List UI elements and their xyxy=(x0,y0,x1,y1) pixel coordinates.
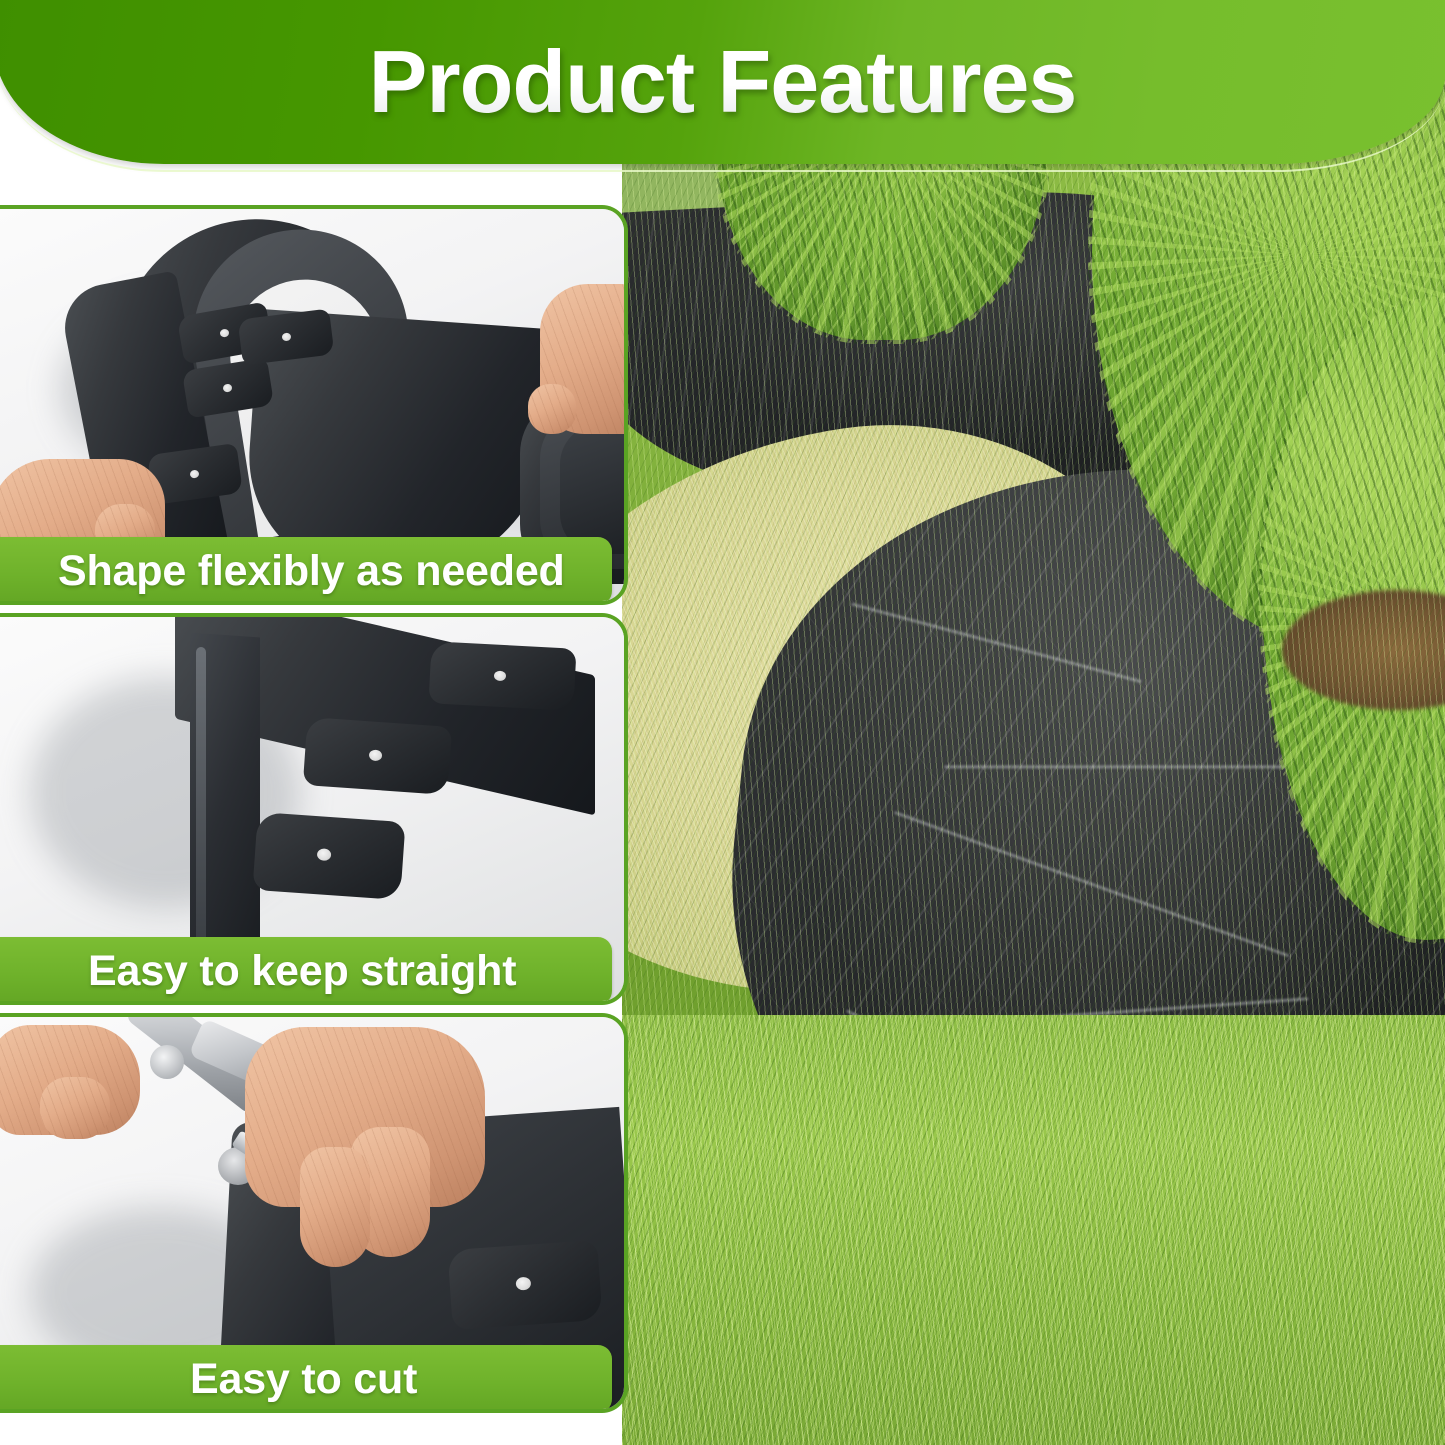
feature-label-1: Shape flexibly as needed xyxy=(0,537,612,605)
anchor-stake xyxy=(303,717,452,795)
feature-label-2: Easy to keep straight xyxy=(0,937,612,1005)
finger-left xyxy=(40,1077,110,1139)
edging-top-lip xyxy=(196,647,206,947)
page-title: Product Features xyxy=(0,0,1445,164)
feature-panel-2: Easy to keep straight xyxy=(0,613,628,1005)
stake-hole xyxy=(222,383,232,392)
product-features-infographic: Shape flexibly as needed Easy to keep st… xyxy=(0,0,1445,1445)
hero-garden-photo xyxy=(622,0,1445,1445)
feature-label-1-text: Shape flexibly as needed xyxy=(0,547,565,596)
shears-spring xyxy=(150,1045,184,1079)
header-banner: Product Features xyxy=(0,0,1445,172)
foreground-lawn xyxy=(622,1015,1445,1445)
edging-coil-layer xyxy=(560,424,624,554)
stake-hole xyxy=(317,848,332,861)
thumb-right xyxy=(528,384,576,434)
anchor-stake xyxy=(447,1240,602,1330)
anchor-stake xyxy=(428,641,576,711)
feature-panel-1: Shape flexibly as needed xyxy=(0,205,628,605)
stake-hole xyxy=(515,1277,531,1291)
fabric-crease xyxy=(894,811,1290,957)
stake-hole xyxy=(219,328,229,337)
feature-label-3: Easy to cut xyxy=(0,1345,612,1413)
fabric-crease xyxy=(944,765,1304,768)
anchor-stake xyxy=(252,812,405,900)
finger-right xyxy=(300,1147,370,1267)
feature-panel-3: Easy to cut xyxy=(0,1013,628,1413)
stake-hole xyxy=(494,671,507,682)
feature-label-2-text: Easy to keep straight xyxy=(0,947,516,996)
stake-hole xyxy=(369,749,383,761)
fabric-crease xyxy=(851,603,1142,684)
stake-hole xyxy=(189,469,199,478)
stake-hole xyxy=(282,332,292,341)
feature-label-3-text: Easy to cut xyxy=(0,1355,417,1404)
